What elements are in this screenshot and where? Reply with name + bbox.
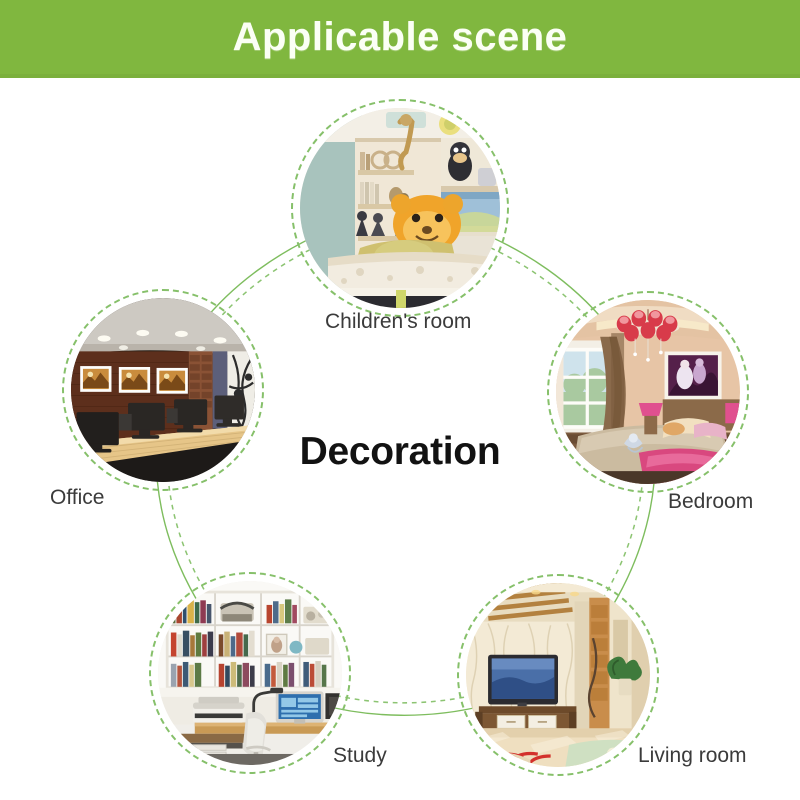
study-photo[interactable] [158,581,342,765]
node-label-living-room: Living room [638,744,747,768]
study-photo [158,581,342,765]
node-label-study: Study [333,744,387,768]
childrens-room-photo [300,108,500,308]
node-label-office: Office [50,486,104,510]
diagram-stage: Children's room [0,78,800,800]
childrens-room-photo[interactable] [300,108,500,308]
page-title: Applicable scene [233,17,568,57]
center-label: Decoration [0,430,800,474]
applicable-scene-infographic: Applicable scene [0,0,800,800]
living-room-photo [466,583,650,767]
living-room-photo[interactable] [466,583,650,767]
node-study[interactable] [158,581,342,765]
node-childrens-room[interactable] [300,108,500,308]
node-label-bedroom: Bedroom [668,490,753,514]
header-banner: Applicable scene [0,0,800,78]
node-label-childrens-room: Children's room [325,310,471,334]
node-living-room[interactable] [466,583,650,767]
